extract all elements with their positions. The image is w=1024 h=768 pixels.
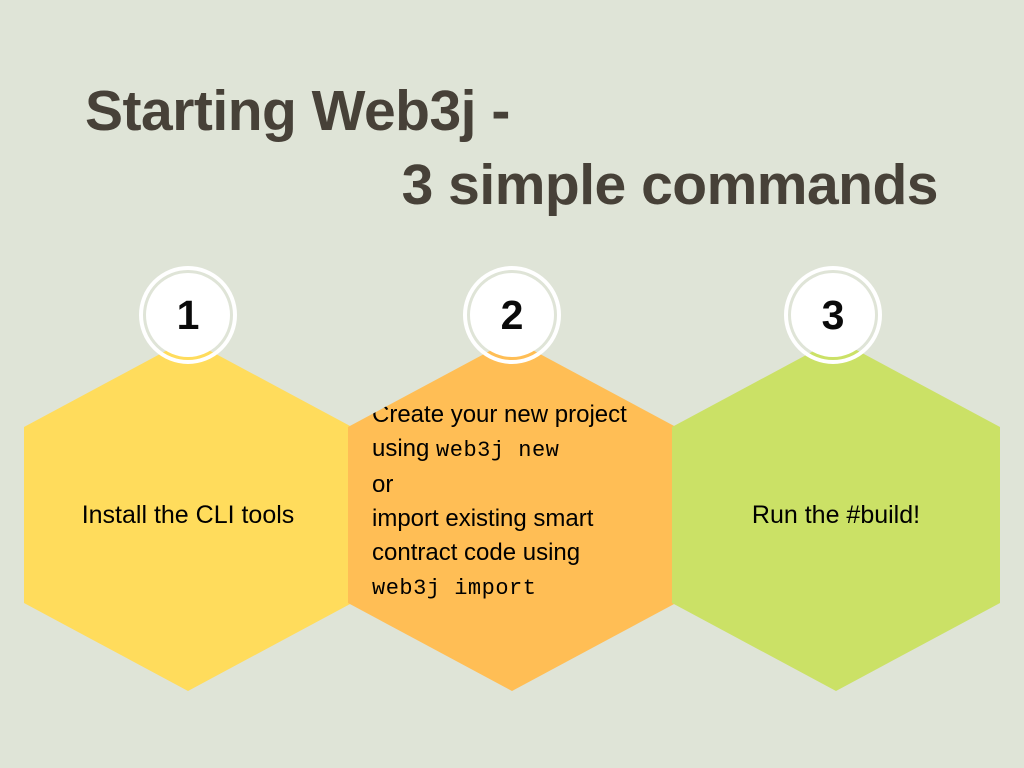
step-badge-3: 3 [784, 266, 882, 364]
step-2-text: Create your new project using web3j newo… [348, 398, 676, 606]
step-badge-2-disc: 2 [470, 273, 554, 357]
step-hexagon-2: Create your new project using web3j newo… [348, 339, 676, 691]
page-title-line-2: 3 simple commands [0, 148, 960, 222]
step-badge-3-disc: 3 [791, 273, 875, 357]
step-3-text: Run the #build! [672, 498, 1000, 532]
step-badge-1: 1 [139, 266, 237, 364]
slide-canvas: Starting Web3j - 3 simple commands Insta… [0, 0, 1024, 768]
step-hexagon-1: Install the CLI tools [24, 339, 352, 691]
step-1-text: Install the CLI tools [24, 498, 352, 532]
step-badge-3-number: 3 [822, 295, 845, 336]
step-badge-1-disc: 1 [146, 273, 230, 357]
step-badge-2: 2 [463, 266, 561, 364]
step-hexagon-3: Run the #build! [672, 339, 1000, 691]
inline-command: web3j import [372, 576, 536, 601]
inline-command: web3j new [436, 438, 559, 463]
page-title-line-1: Starting Web3j - [0, 74, 960, 148]
step-badge-2-number: 2 [501, 295, 524, 336]
step-badge-1-number: 1 [177, 295, 200, 336]
page-title: Starting Web3j - 3 simple commands [0, 74, 960, 222]
